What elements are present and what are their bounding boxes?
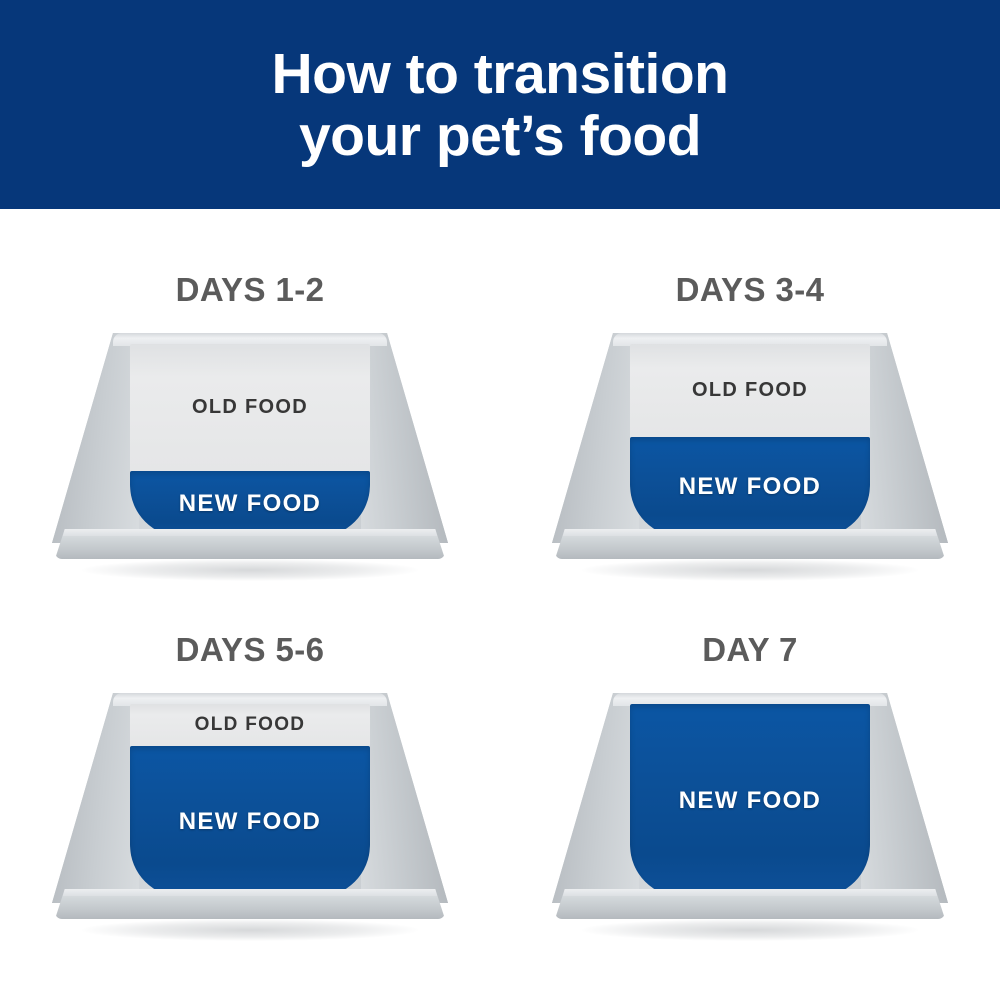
bowl-cavity: OLD FOOD NEW FOOD bbox=[130, 344, 371, 537]
step-heading: DAYS 1-2 bbox=[0, 271, 500, 309]
old-food-label: OLD FOOD bbox=[195, 714, 306, 736]
bowl-cavity: OLD FOOD NEW FOOD bbox=[130, 704, 371, 897]
new-food-layer: NEW FOOD bbox=[130, 746, 371, 897]
new-food-label: NEW FOOD bbox=[179, 808, 321, 836]
bowl-cavity: OLD FOOD NEW FOOD bbox=[630, 704, 871, 897]
new-food-layer: NEW FOOD bbox=[630, 704, 871, 897]
bowl-wall-left bbox=[552, 693, 639, 903]
bowl-wall-left bbox=[552, 333, 639, 543]
bowl-illustration: OLD FOOD NEW FOOD bbox=[52, 693, 448, 931]
old-food-layer: OLD FOOD bbox=[130, 344, 371, 471]
bowl-base-highlight bbox=[55, 529, 445, 536]
bowl-illustration: OLD FOOD NEW FOOD bbox=[52, 333, 448, 571]
page-title: How to transition your pet’s food bbox=[140, 43, 860, 167]
new-food-layer: NEW FOOD bbox=[130, 471, 371, 537]
new-food-layer: NEW FOOD bbox=[630, 437, 871, 537]
bowl-illustration: OLD FOOD NEW FOOD bbox=[552, 333, 948, 571]
step-heading: DAYS 3-4 bbox=[500, 271, 1000, 309]
old-food-layer: OLD FOOD bbox=[130, 704, 371, 746]
old-food-label: OLD FOOD bbox=[692, 379, 808, 402]
new-food-label: NEW FOOD bbox=[179, 490, 321, 518]
bowl-wall-right bbox=[861, 333, 948, 543]
bowl-cavity: OLD FOOD NEW FOOD bbox=[630, 344, 871, 537]
bowl-wall-right bbox=[861, 693, 948, 903]
bowl-wall-left bbox=[52, 693, 139, 903]
step-card-day-7: DAY 7 OLD FOOD NEW FOOD bbox=[500, 569, 1000, 965]
bowl-shadow bbox=[582, 919, 918, 941]
bowl-base-highlight bbox=[55, 889, 445, 896]
new-food-label: NEW FOOD bbox=[679, 473, 821, 501]
header-band: How to transition your pet’s food bbox=[0, 0, 1000, 209]
step-card-days-1-2: DAYS 1-2 OLD FOOD NEW FOOD bbox=[0, 209, 500, 605]
old-food-layer: OLD FOOD bbox=[630, 344, 871, 437]
step-card-days-5-6: DAYS 5-6 OLD FOOD NEW FOOD bbox=[0, 569, 500, 965]
bowl-illustration: OLD FOOD NEW FOOD bbox=[552, 693, 948, 931]
steps-grid: DAYS 1-2 OLD FOOD NEW FOOD DAYS 3-4 bbox=[0, 209, 1000, 1000]
new-food-label: NEW FOOD bbox=[679, 787, 821, 815]
bowl-base-highlight bbox=[555, 529, 945, 536]
bowl-wall-left bbox=[52, 333, 139, 543]
old-food-label: OLD FOOD bbox=[192, 396, 308, 419]
bowl-base-highlight bbox=[555, 889, 945, 896]
step-heading: DAYS 5-6 bbox=[0, 631, 500, 669]
step-heading: DAY 7 bbox=[500, 631, 1000, 669]
step-card-days-3-4: DAYS 3-4 OLD FOOD NEW FOOD bbox=[500, 209, 1000, 605]
bowl-wall-right bbox=[361, 333, 448, 543]
bowl-wall-right bbox=[361, 693, 448, 903]
bowl-shadow bbox=[82, 919, 418, 941]
